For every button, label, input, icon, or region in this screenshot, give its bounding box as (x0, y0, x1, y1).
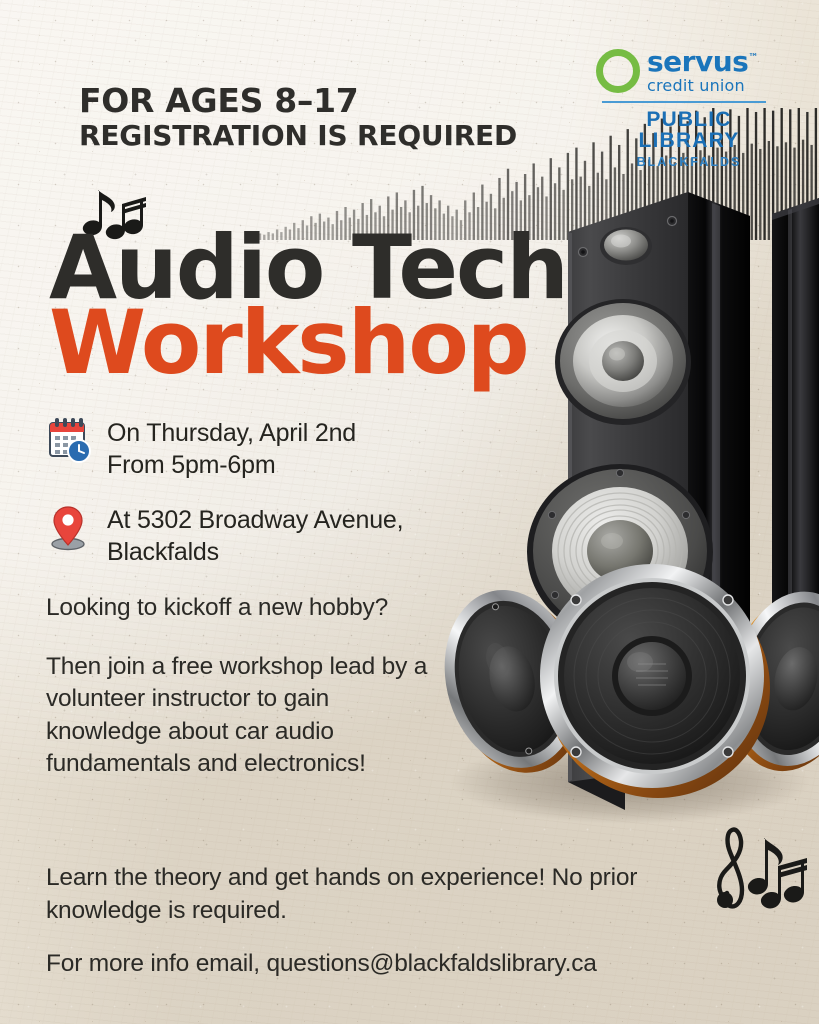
logo-top-row: servus™ credit union (596, 48, 776, 94)
info-date-line1: On Thursday, April 2nd (107, 418, 356, 450)
body-copy-wide: Learn the theory and get hands on experi… (46, 862, 726, 955)
logo-town-line: BLACKFALDS (602, 155, 776, 169)
body-paragraph-1: Looking to kickoff a new hobby? (46, 592, 446, 625)
info-row-location: At 5302 Broadway Avenue, Blackfalds (46, 503, 506, 568)
body-paragraph-3: Learn the theory and get hands on experi… (46, 862, 726, 927)
tweeter-driver (600, 227, 652, 265)
calendar-clock-icon (46, 416, 92, 464)
info-location-line2: Blackfalds (107, 537, 403, 569)
logo-library-line: PUBLIC LIBRARY (602, 109, 776, 151)
midrange-driver (555, 299, 691, 425)
treble-clef-notes-icon (708, 818, 812, 916)
info-row-date: On Thursday, April 2nd From 5pm-6pm (46, 416, 506, 481)
info-date-line2: From 5pm-6pm (107, 450, 356, 482)
servus-library-logo: servus™ credit union PUBLIC LIBRARY BLAC… (596, 48, 776, 169)
logo-brand-sub: credit union (647, 78, 758, 94)
logo-wordmark: servus™ credit union (647, 48, 758, 94)
info-date-text: On Thursday, April 2nd From 5pm-6pm (107, 416, 356, 481)
ages-header: FOR AGES 8–17 REGISTRATION IS REQUIRED (79, 83, 517, 151)
logo-brand-name: servus™ (647, 48, 758, 76)
logo-divider (602, 101, 766, 103)
ages-line: FOR AGES 8–17 (79, 83, 517, 120)
event-info: On Thursday, April 2nd From 5pm-6pm At 5… (46, 416, 506, 590)
body-copy-column: Looking to kickoff a new hobby? Then joi… (46, 592, 446, 807)
poster: servus™ credit union PUBLIC LIBRARY BLAC… (0, 0, 819, 1024)
contact-email-line: For more info email, questions@blackfald… (46, 950, 746, 978)
info-location-line1: At 5302 Broadway Avenue, (107, 505, 403, 537)
body-paragraph-2: Then join a free workshop lead by a volu… (46, 651, 446, 781)
logo-trademark-icon: ™ (748, 53, 758, 64)
registration-line: REGISTRATION IS REQUIRED (79, 120, 517, 151)
info-location-text: At 5302 Broadway Avenue, Blackfalds (107, 503, 403, 568)
location-pin-icon (46, 503, 92, 551)
servus-circle-icon (596, 49, 640, 93)
